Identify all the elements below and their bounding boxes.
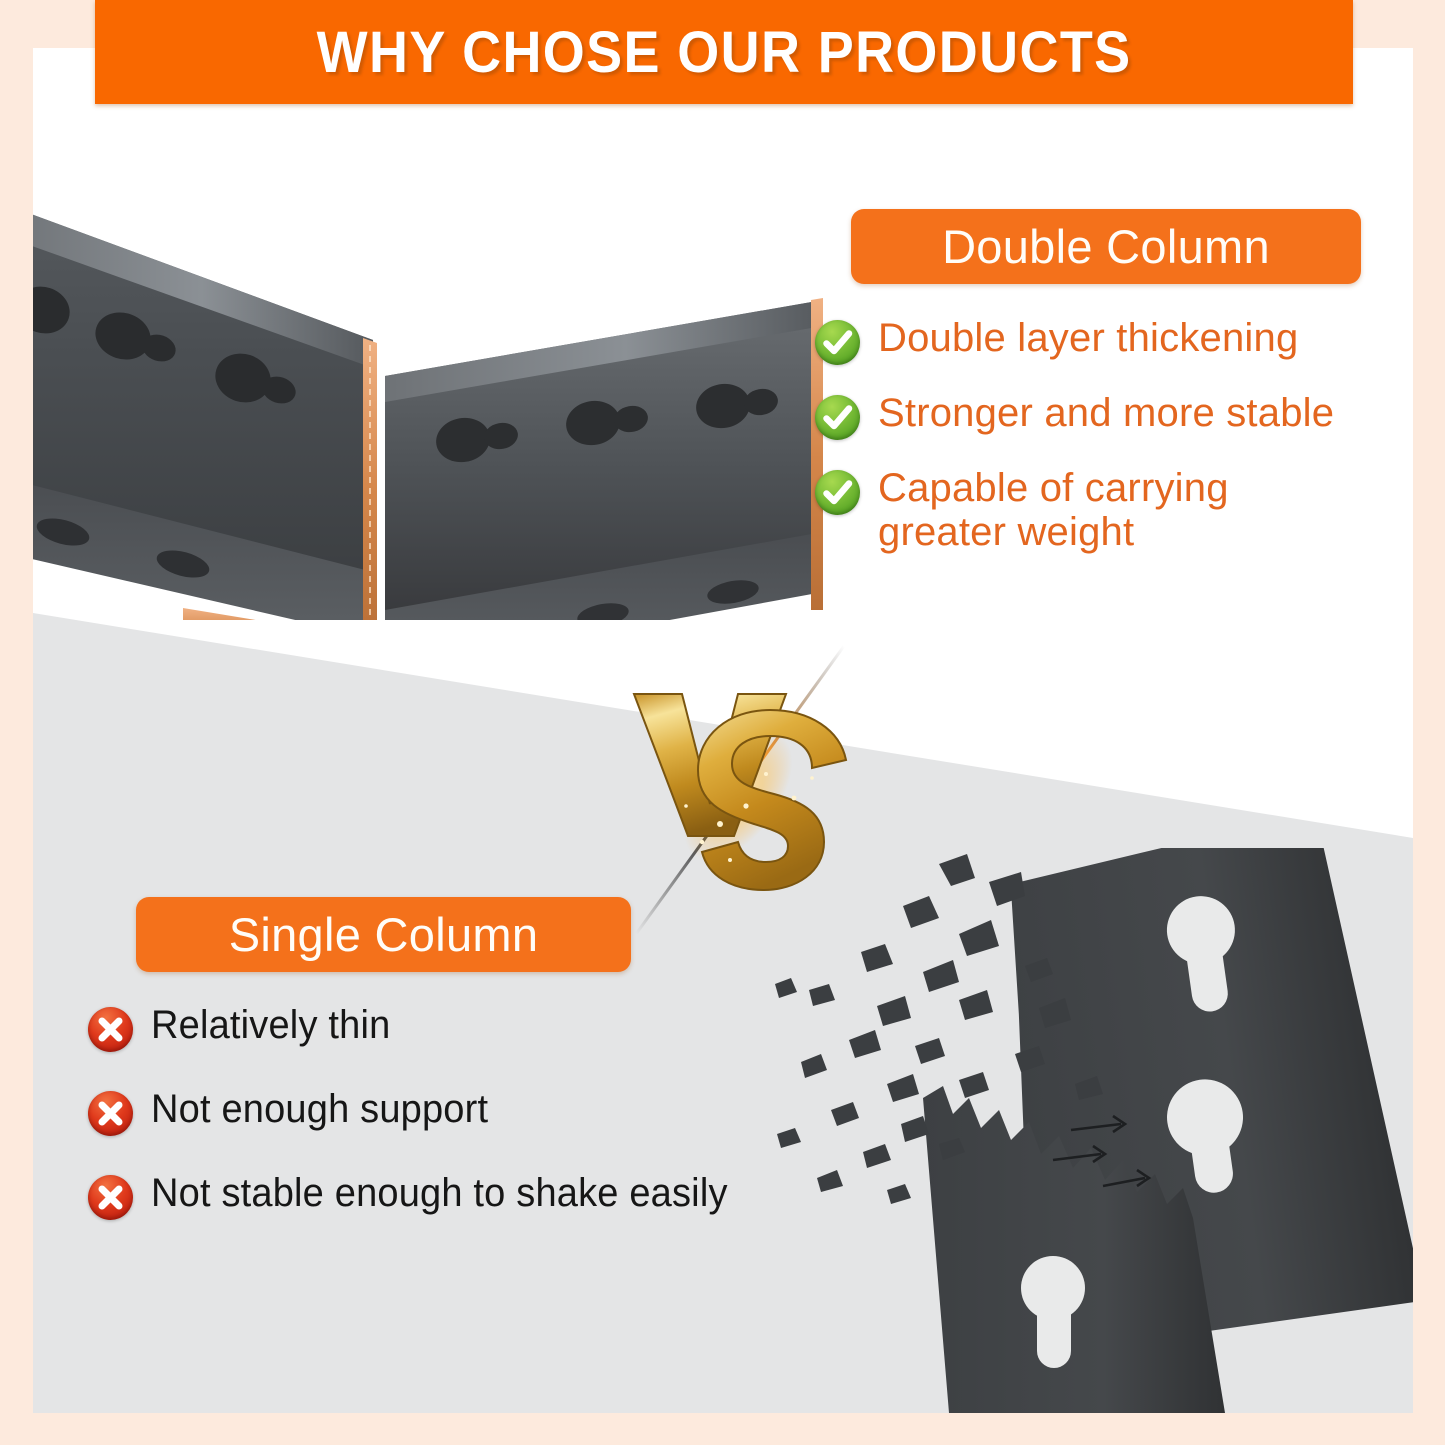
check-circle-icon [815,395,860,440]
check-circle-icon [815,470,860,515]
check-circle-icon [815,320,860,365]
badge-double-column-label: Double Column [942,219,1270,274]
header-banner: WHY CHOSE OUR PRODUCTS [95,0,1353,104]
cons-item-text: Not enough support [151,1087,488,1131]
pros-list: Double layer thickening Stronger and mor… [815,316,1413,580]
beam-front [33,200,377,620]
x-circle-icon [88,1007,133,1052]
page-title: WHY CHOSE OUR PRODUCTS [317,19,1132,86]
badge-double-column: Double Column [851,209,1361,284]
list-item: Not stable enough to shake easily [88,1171,878,1220]
poster-root: Double Column Double layer thickening S [0,0,1445,1445]
cons-item-text: Relatively thin [151,1003,390,1047]
cons-list: Relatively thin Not enough support Not s… [88,1003,878,1255]
list-item: Not enough support [88,1087,878,1136]
versus-letters [598,628,918,948]
badge-single-column: Single Column [136,897,631,972]
pros-item-text: Stronger and more stable [878,391,1334,435]
list-item: Capable of carrying greater weight [815,466,1413,554]
beam-back [385,298,823,620]
list-item: Stronger and more stable [815,391,1413,440]
versus-emblem [598,628,918,948]
x-circle-icon [88,1091,133,1136]
list-item: Relatively thin [88,1003,878,1052]
content-plate: Double Column Double layer thickening S [33,48,1413,1413]
list-item: Double layer thickening [815,316,1413,365]
cons-item-text: Not stable enough to shake easily [151,1171,728,1215]
pros-item-text: Capable of carrying greater weight [878,466,1308,554]
double-column-photo [33,140,823,620]
pros-item-text: Double layer thickening [878,316,1298,360]
x-circle-icon [88,1175,133,1220]
badge-single-column-label: Single Column [229,907,539,962]
